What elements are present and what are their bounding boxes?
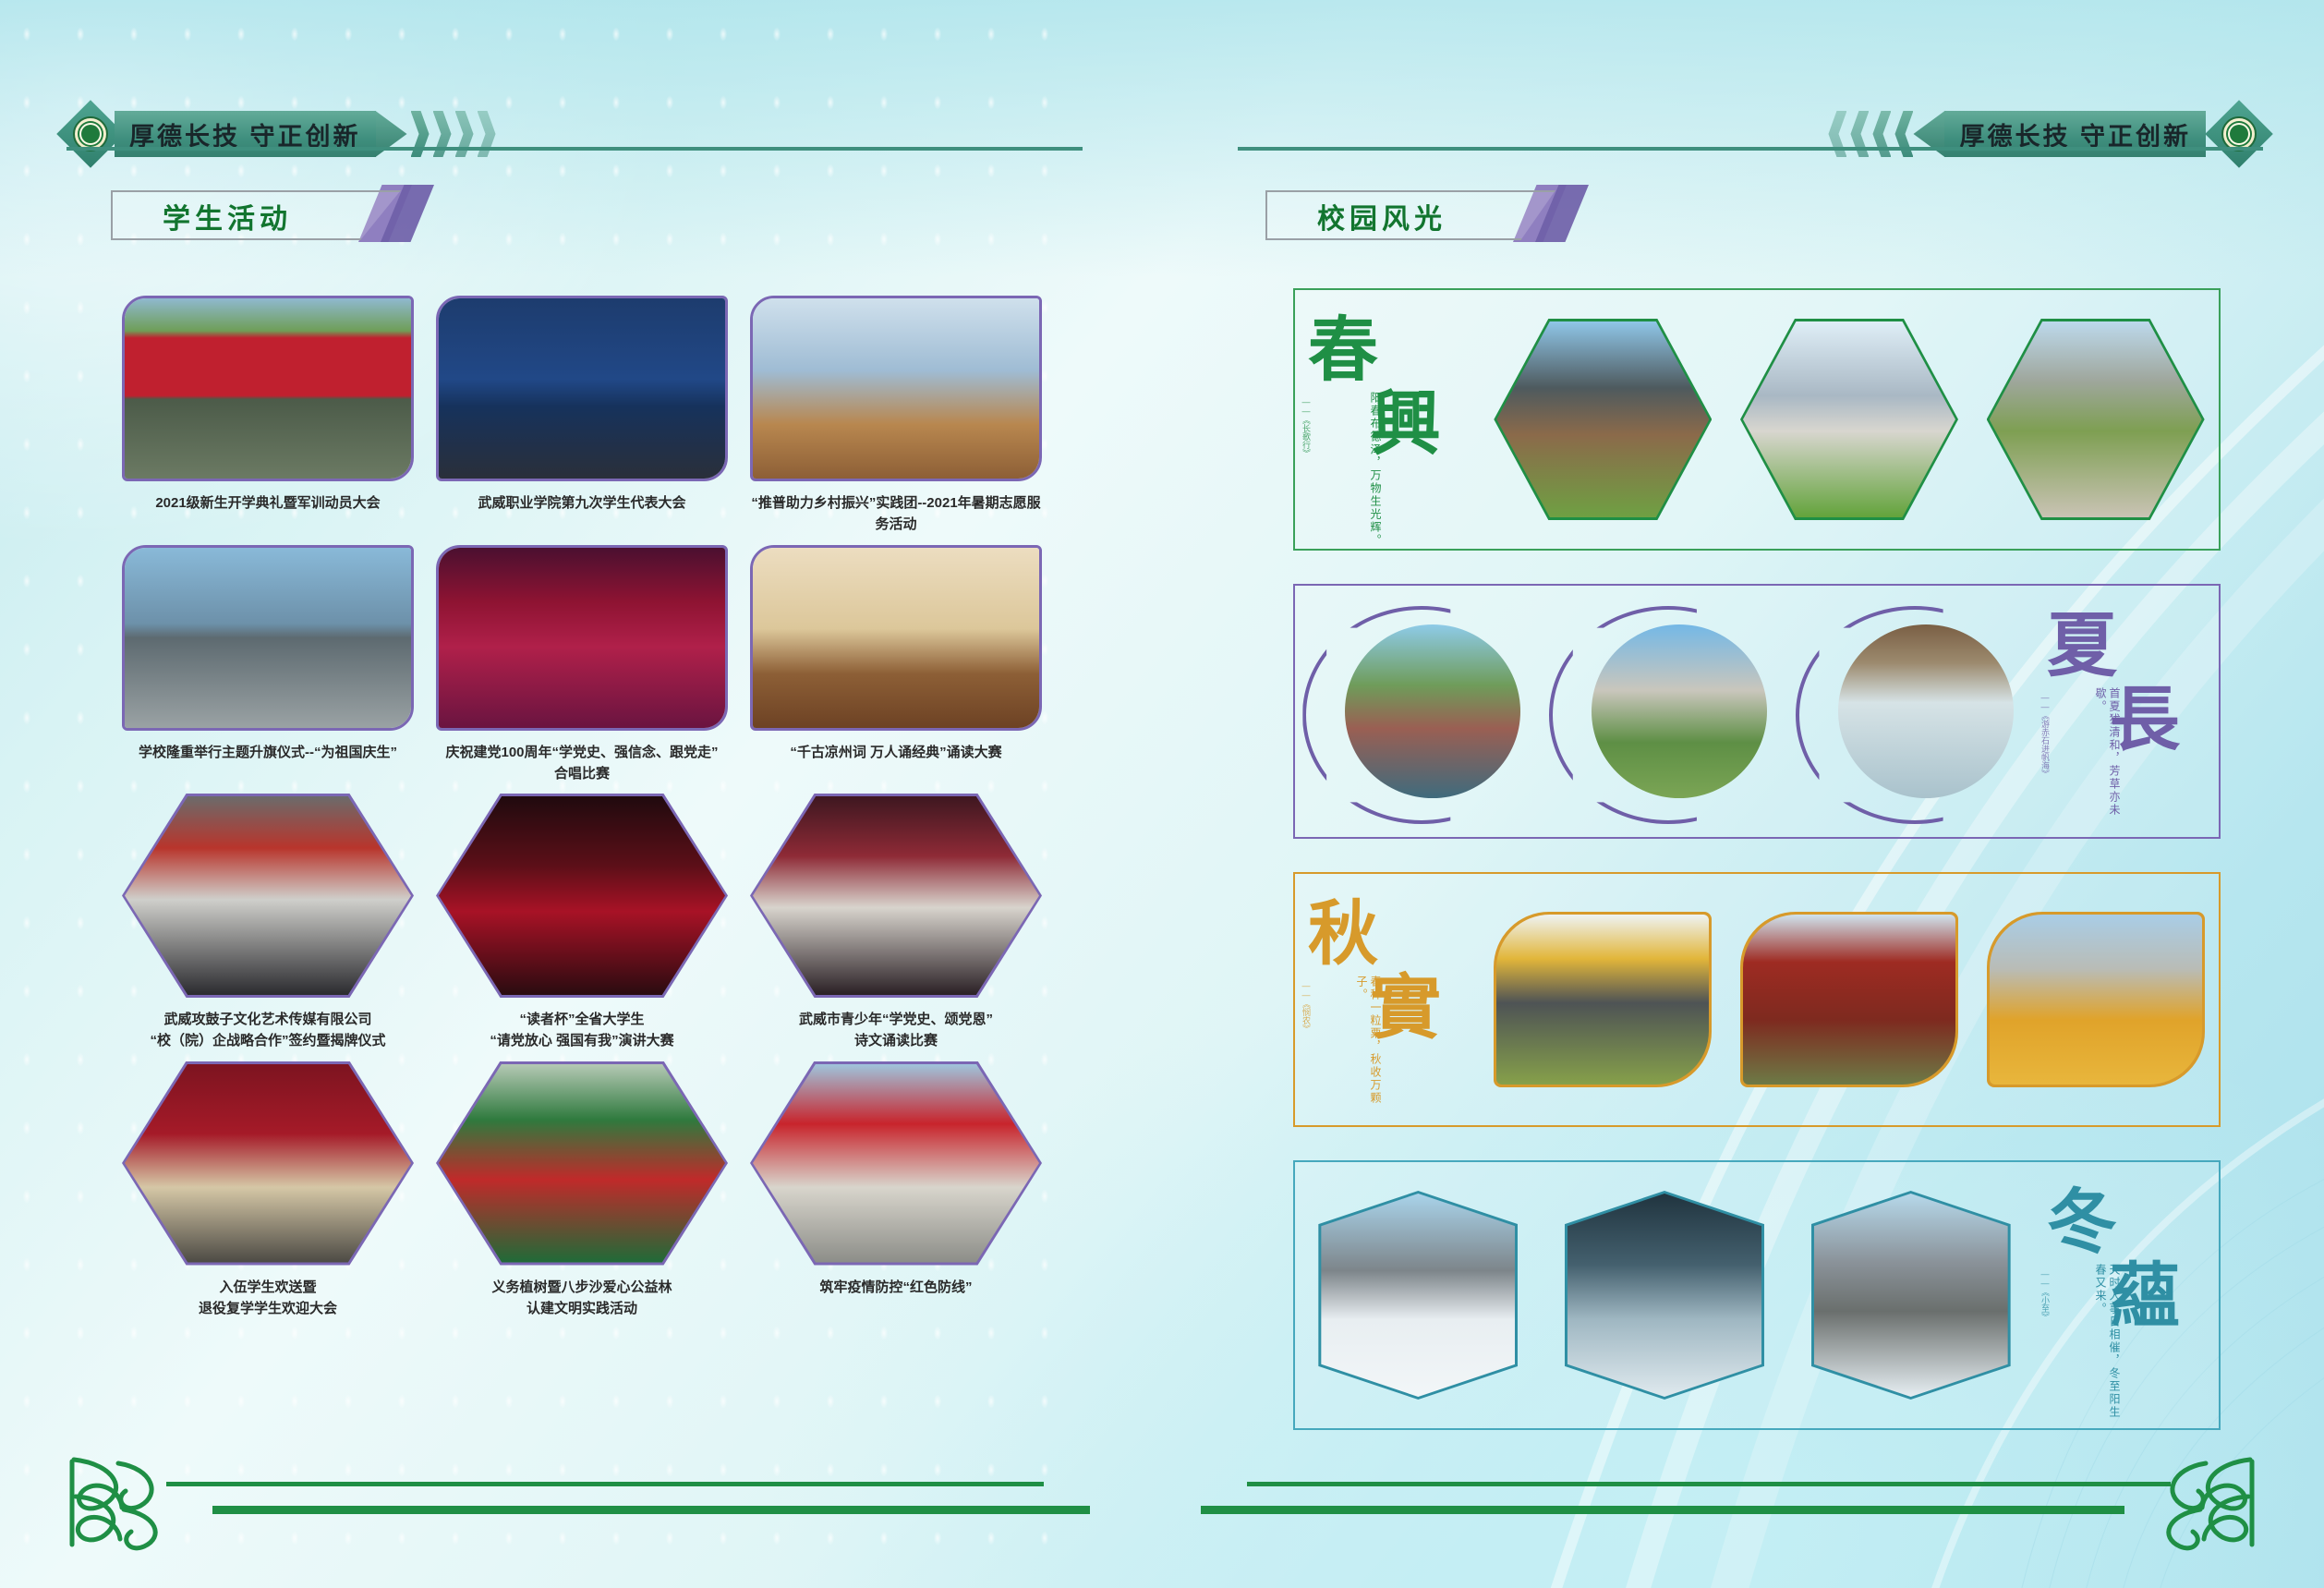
activity-photo-frame[interactable] [750, 545, 1042, 731]
activity-caption: “推普助力乡村振兴”实践团--2021年暑期志愿服务活动 [748, 492, 1044, 536]
activity-item[interactable]: 武威攻鼓子文化艺术传媒有限公司“校（院）企战略合作”签约暨揭牌仪式 [111, 794, 425, 1052]
section-title-text: 学生活动 [163, 196, 292, 236]
campus-photo-frame[interactable] [1740, 912, 1958, 1087]
footer-rule [1247, 1482, 2171, 1486]
activity-photo-frame[interactable] [122, 296, 414, 481]
season-poem-source: ——《小至》 [2040, 1269, 2052, 1321]
campus-photo-frame[interactable] [1565, 1191, 1764, 1400]
season-panel-spring: 春興阳春布德泽，万物生光辉。——《长歌行》 [1293, 288, 2221, 551]
activity-photo-frame[interactable] [436, 296, 728, 481]
season-calligraphy-summer: 夏長首夏犹清和，芳草亦未歇。——《游赤石进帆海》 [2034, 586, 2219, 837]
activity-caption: 义务植树暨八步沙爱心公益林认建文明实践活动 [491, 1277, 672, 1320]
season-poem: 首夏犹清和，芳草亦未歇。 [2062, 687, 2121, 837]
activity-photo [439, 1064, 725, 1263]
header-rule-right [1238, 147, 2263, 151]
header-banner-right: 厚德长技 守正创新 [1238, 109, 2263, 159]
activity-photo [125, 796, 411, 995]
activity-photo-hexagon[interactable] [122, 794, 414, 998]
season-panel-winter: 冬蘊天时人事日相催，冬至阳生春又来。——《小至》 [1293, 1160, 2221, 1430]
activity-caption: 2021级新生开学典礼暨军训动员大会 [155, 492, 380, 514]
floral-ornament-icon [2112, 1441, 2259, 1561]
season-poem-source: ——《游赤石进帆海》 [2040, 693, 2052, 778]
campus-photo-frame[interactable] [1494, 319, 1712, 520]
campus-photo [1321, 1194, 1515, 1397]
activity-item[interactable]: 筑牢疫情防控“红色防线” [739, 1061, 1053, 1320]
activity-item[interactable]: 义务植树暨八步沙爱心公益林认建文明实践活动 [425, 1061, 739, 1320]
season-poem-source: ——《悯农》 [1301, 981, 1313, 1033]
campus-photo-frame[interactable] [1811, 1191, 2011, 1400]
activity-row: 2021级新生开学典礼暨军训动员大会武威职业学院第九次学生代表大会“推普助力乡村… [111, 296, 1090, 536]
campus-photo [1990, 321, 2202, 517]
activity-row: 武威攻鼓子文化艺术传媒有限公司“校（院）企战略合作”签约暨揭牌仪式“读者杯”全省… [111, 794, 1090, 1052]
activity-photo [753, 1064, 1039, 1263]
season-poem: 天时人事日相催，冬至阳生春又来。 [2062, 1264, 2121, 1428]
season-poem: 阳春布德泽，万物生光辉。 [1323, 392, 1382, 547]
activity-item[interactable]: “读者杯”全省大学生“请党放心 强国有我”演讲大赛 [425, 794, 739, 1052]
activity-caption: 武威市青少年“学党史、颂党恩”诗文诵读比赛 [799, 1009, 993, 1052]
activity-item[interactable]: 学校隆重举行主题升旗仪式--“为祖国庆生” [111, 545, 425, 785]
header-rule-left [67, 147, 1083, 151]
campus-photo-frame[interactable] [1987, 912, 2205, 1087]
season-char-primary: 春 [1308, 316, 1378, 386]
floral-ornament-icon [65, 1441, 212, 1561]
activity-item[interactable]: 2021级新生开学典礼暨军训动员大会 [111, 296, 425, 536]
activity-caption: “读者杯”全省大学生“请党放心 强国有我”演讲大赛 [490, 1009, 673, 1052]
season-photo-strip [1295, 1162, 2034, 1428]
activity-photo-hexagon[interactable] [122, 1061, 414, 1266]
campus-photo [1743, 915, 1955, 1085]
activity-caption: 入伍学生欢送暨退役复学学生欢迎大会 [199, 1277, 337, 1320]
activity-item[interactable]: 庆祝建党100周年“学党史、强信念、跟党走”合唱比赛 [425, 545, 739, 785]
activity-caption: 筑牢疫情防控“红色防线” [819, 1277, 972, 1298]
campus-photo-frame[interactable] [1318, 1191, 1518, 1400]
activity-photo-hexagon[interactable] [750, 794, 1042, 998]
campus-photo [1743, 321, 1955, 517]
campus-photo-frame[interactable] [1549, 606, 1780, 817]
activity-photo-hexagon[interactable] [436, 794, 728, 998]
activity-photo [439, 548, 725, 728]
season-poem-source: ——《长歌行》 [1301, 397, 1313, 457]
student-activity-grid: 2021级新生开学典礼暨军训动员大会武威职业学院第九次学生代表大会“推普助力乡村… [111, 296, 1090, 1328]
campus-photo [1990, 915, 2202, 1085]
activity-photo [125, 1064, 411, 1263]
season-char-primary: 冬 [2047, 1188, 2117, 1258]
campus-photo [1814, 1194, 2008, 1397]
school-seal-icon [2205, 100, 2273, 168]
season-panel-autumn: 秋實春种一粒粟，秋收万颗子。——《悯农》 [1293, 872, 2221, 1127]
season-photo-strip [1480, 290, 2219, 549]
activity-photo [439, 796, 725, 995]
season-poem: 春种一粒粟，秋收万颗子。 [1323, 976, 1382, 1125]
activity-caption: “千古凉州词 万人诵经典”诵读大赛 [790, 742, 1001, 763]
activity-photo [753, 796, 1039, 995]
activity-photo [439, 298, 725, 479]
activity-photo [125, 298, 411, 479]
activity-caption: 学校隆重举行主题升旗仪式--“为祖国庆生” [139, 742, 397, 763]
season-calligraphy-autumn: 秋實春种一粒粟，秋收万颗子。——《悯农》 [1295, 874, 1480, 1125]
season-char-primary: 秋 [1308, 900, 1378, 970]
activity-photo-frame[interactable] [122, 545, 414, 731]
activity-row: 入伍学生欢送暨退役复学学生欢迎大会义务植树暨八步沙爱心公益林认建文明实践活动筑牢… [111, 1061, 1090, 1320]
activity-item[interactable]: 武威市青少年“学党史、颂党恩”诗文诵读比赛 [739, 794, 1053, 1052]
activity-item[interactable]: 武威职业学院第九次学生代表大会 [425, 296, 739, 536]
header-banner-left: 厚德长技 守正创新 [67, 109, 1083, 159]
activity-photo [753, 548, 1039, 728]
activity-row: 学校隆重举行主题升旗仪式--“为祖国庆生”庆祝建党100周年“学党史、强信念、跟… [111, 545, 1090, 785]
season-calligraphy-winter: 冬蘊天时人事日相催，冬至阳生春又来。——《小至》 [2034, 1162, 2219, 1428]
activity-caption: 武威攻鼓子文化艺术传媒有限公司“校（院）企战略合作”签约暨揭牌仪式 [150, 1009, 385, 1052]
campus-photo [1567, 1194, 1761, 1397]
season-char-primary: 夏 [2047, 612, 2117, 682]
season-calligraphy-spring: 春興阳春布德泽，万物生光辉。——《长歌行》 [1295, 290, 1480, 549]
section-title-text: 校园风光 [1317, 196, 1446, 236]
footer-rule [212, 1506, 1090, 1514]
activity-photo-hexagon[interactable] [750, 1061, 1042, 1266]
footer-rule [1201, 1506, 2124, 1514]
activity-item[interactable]: “千古凉州词 万人诵经典”诵读大赛 [739, 545, 1053, 785]
campus-photo-frame[interactable] [1740, 319, 1958, 520]
activity-photo-frame[interactable] [750, 296, 1042, 481]
campus-photo [1496, 321, 1709, 517]
section-title-campus-scenery: 校园风光 [1265, 183, 1616, 244]
campus-photo [1345, 624, 1520, 798]
activity-photo [125, 548, 411, 728]
activity-caption: 庆祝建党100周年“学党史、强信念、跟党走”合唱比赛 [445, 742, 718, 785]
activity-item[interactable]: 入伍学生欢送暨退役复学学生欢迎大会 [111, 1061, 425, 1320]
season-photo-strip [1295, 586, 2034, 837]
campus-photo-frame[interactable] [1302, 606, 1533, 817]
activity-photo-hexagon[interactable] [436, 1061, 728, 1266]
campus-photo-frame[interactable] [1796, 606, 2027, 817]
campus-photo [1496, 915, 1709, 1085]
campus-photo-frame[interactable] [1987, 319, 2205, 520]
campus-photo [1838, 624, 2014, 798]
campus-photo-frame[interactable] [1494, 912, 1712, 1087]
activity-item[interactable]: “推普助力乡村振兴”实践团--2021年暑期志愿服务活动 [739, 296, 1053, 536]
campus-photo [1592, 624, 1767, 798]
season-photo-strip [1480, 874, 2219, 1125]
footer-rule [166, 1482, 1044, 1486]
activity-photo-frame[interactable] [436, 545, 728, 731]
activity-photo [753, 298, 1039, 479]
activity-caption: 武威职业学院第九次学生代表大会 [478, 492, 685, 514]
section-title-student-activities: 学生活动 [111, 183, 462, 244]
season-panel-summer: 夏長首夏犹清和，芳草亦未歇。——《游赤石进帆海》 [1293, 584, 2221, 839]
